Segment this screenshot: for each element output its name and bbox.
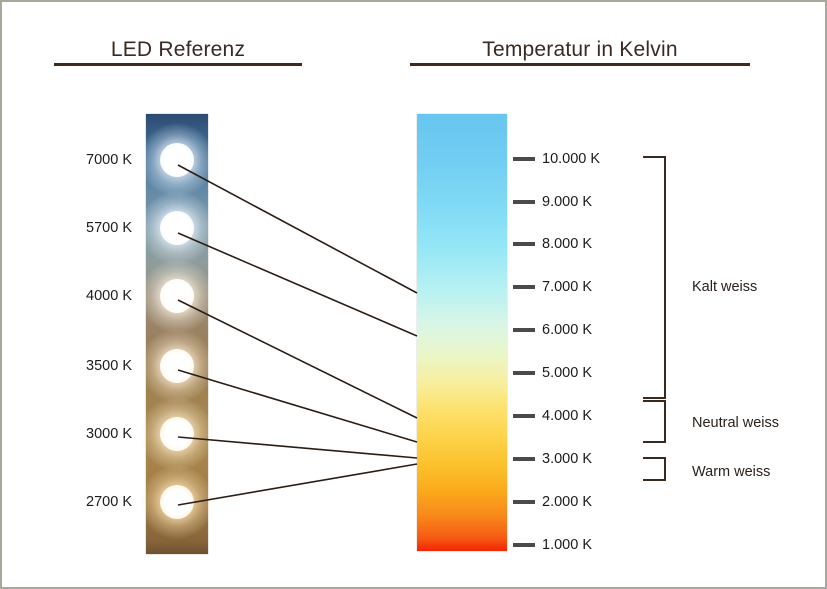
connector-line	[178, 233, 417, 336]
connector-line	[178, 464, 417, 505]
category-bracket	[643, 401, 665, 442]
category-label: Warm weiss	[692, 464, 770, 480]
category-bracket	[643, 458, 665, 480]
kelvin-tick-mark	[513, 543, 535, 547]
led-kelvin-label: 2700 K	[42, 494, 132, 510]
kelvin-tick-label: 10.000 K	[542, 151, 600, 167]
led-strip-image	[146, 114, 208, 554]
led-lamp-core	[160, 349, 194, 383]
led-kelvin-label: 3500 K	[42, 358, 132, 374]
kelvin-tick-mark	[513, 371, 535, 375]
led-kelvin-label: 7000 K	[42, 152, 132, 168]
kelvin-tick-label: 2.000 K	[542, 494, 592, 510]
kelvin-tick-mark	[513, 285, 535, 289]
led-lamp-glow	[140, 397, 214, 471]
led-kelvin-label: 4000 K	[42, 288, 132, 304]
kelvin-tick-mark	[513, 242, 535, 246]
connector-line	[178, 437, 417, 458]
kelvin-gradient-bar	[417, 114, 507, 551]
led-lamp-glow	[140, 191, 214, 265]
kelvin-tick-label: 5.000 K	[542, 365, 592, 381]
category-bracket	[643, 157, 665, 398]
kelvin-tick-label: 8.000 K	[542, 236, 592, 252]
kelvin-tick-label: 7.000 K	[542, 279, 592, 295]
led-kelvin-label: 3000 K	[42, 426, 132, 442]
led-lamp-glow	[140, 329, 214, 403]
connector-line	[178, 165, 417, 293]
page-title-kelvin: Temperatur in Kelvin	[410, 38, 750, 62]
category-label: Kalt weiss	[692, 279, 757, 295]
connector-line	[178, 300, 417, 418]
led-lamp-glow	[140, 259, 214, 333]
title-underline-kelvin	[410, 63, 750, 66]
kelvin-tick-label: 3.000 K	[542, 451, 592, 467]
led-lamp-core	[160, 211, 194, 245]
led-kelvin-label: 5700 K	[42, 220, 132, 236]
kelvin-tick-label: 1.000 K	[542, 537, 592, 553]
kelvin-tick-mark	[513, 414, 535, 418]
kelvin-tick-mark	[513, 157, 535, 161]
led-lamp-glow	[140, 465, 214, 539]
diagram-canvas: LED Referenz Temperatur in Kelvin 7000 K…	[0, 0, 827, 589]
led-label-column: 7000 K5700 K4000 K3500 K3000 K2700 K	[42, 2, 132, 589]
led-lamp-core	[160, 417, 194, 451]
connector-line	[178, 370, 417, 442]
led-lamp-glow	[140, 123, 214, 197]
led-lamp-core	[160, 485, 194, 519]
led-lamp-core	[160, 279, 194, 313]
kelvin-tick-label: 6.000 K	[542, 322, 592, 338]
kelvin-tick-mark	[513, 457, 535, 461]
kelvin-tick-label: 9.000 K	[542, 194, 592, 210]
led-lamp-core	[160, 143, 194, 177]
kelvin-tick-mark	[513, 500, 535, 504]
kelvin-tick-label: 4.000 K	[542, 408, 592, 424]
category-label: Neutral weiss	[692, 415, 779, 431]
kelvin-tick-mark	[513, 328, 535, 332]
kelvin-tick-mark	[513, 200, 535, 204]
